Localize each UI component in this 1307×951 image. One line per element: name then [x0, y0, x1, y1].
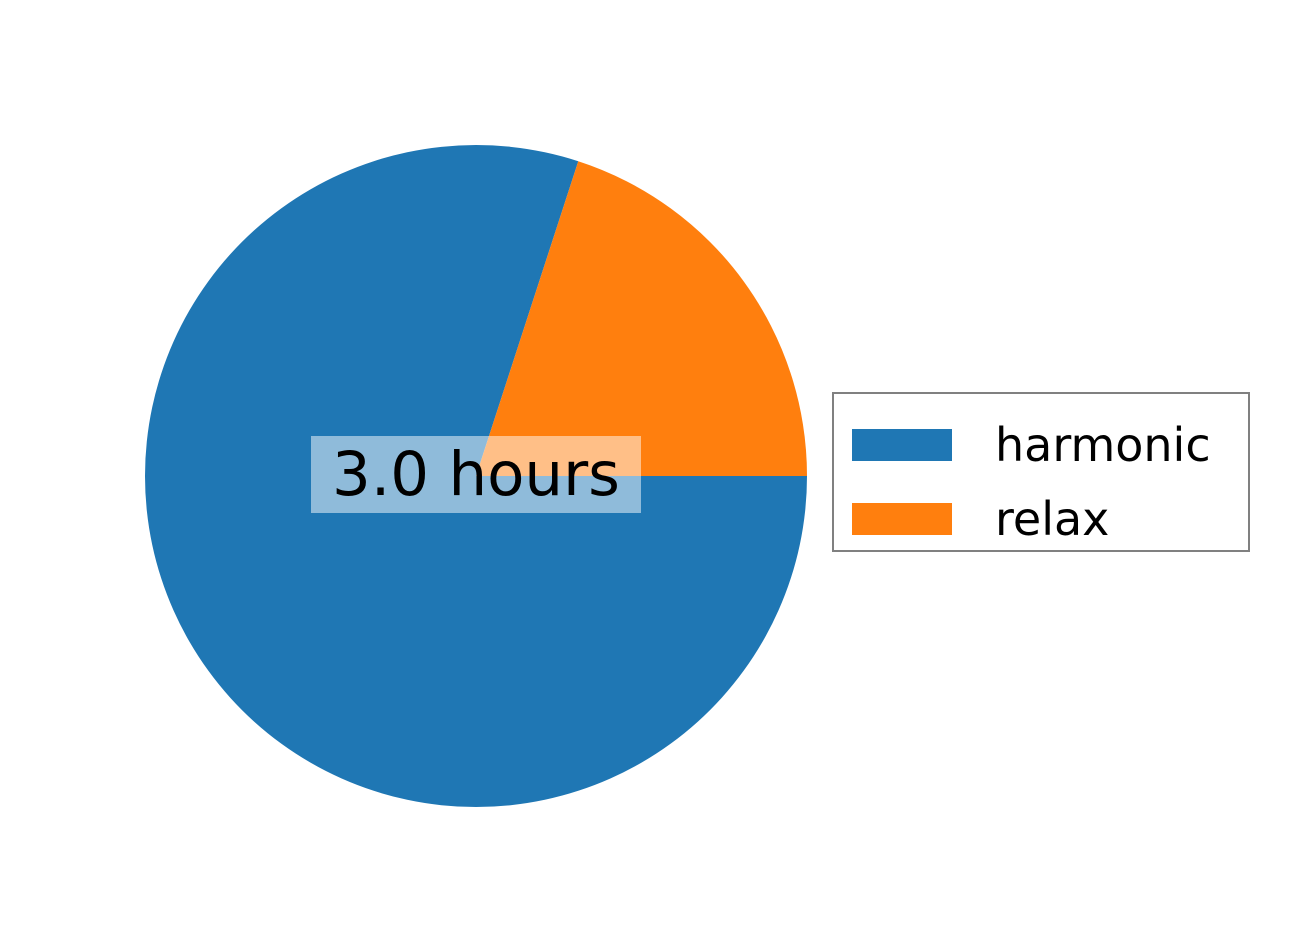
pie-center-label-text: 3.0 hours [332, 444, 620, 505]
legend-label-relax: relax [995, 496, 1109, 542]
pie-center-label: 3.0 hours [311, 436, 641, 513]
legend-swatch-harmonic [852, 429, 952, 461]
chart-legend: harmonic relax [832, 392, 1250, 552]
figure-canvas: 3.0 hours harmonic relax [0, 0, 1307, 951]
legend-swatch-relax [852, 503, 952, 535]
legend-label-harmonic: harmonic [995, 422, 1211, 468]
legend-item-relax[interactable]: relax [834, 482, 1109, 556]
legend-item-harmonic[interactable]: harmonic [834, 408, 1211, 482]
